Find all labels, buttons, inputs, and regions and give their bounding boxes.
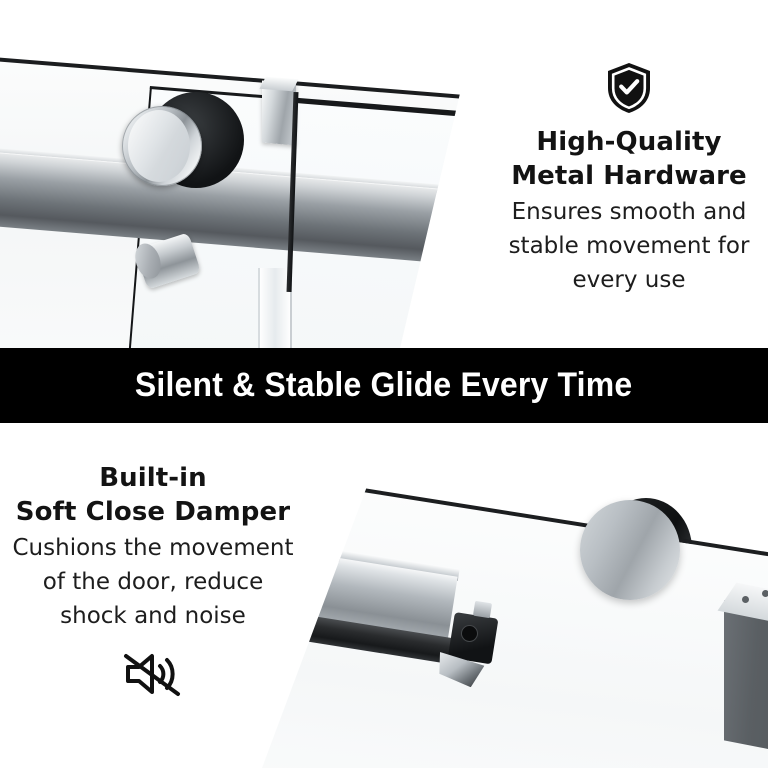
top-title-line-1: High-Quality xyxy=(490,126,768,160)
bottom-body-line-2: of the door, reduce xyxy=(8,567,298,598)
top-title-line-2: Metal Hardware xyxy=(490,160,768,194)
top-body-line-3: every use xyxy=(490,265,768,296)
mounting-screw-hole-1 xyxy=(742,596,749,603)
bottom-body-line-1: Cushions the movement xyxy=(8,533,298,564)
top-feature-panel: High-Quality Metal Hardware Ensures smoo… xyxy=(0,0,768,348)
mute-speaker-icon xyxy=(122,648,184,700)
banner-text: Silent & Stable Glide Every Time xyxy=(135,366,632,405)
damper-screw-shape xyxy=(473,601,492,618)
roller-disc-shape xyxy=(580,500,680,600)
bottom-title-line-1: Built-in xyxy=(8,462,298,496)
top-text-block: High-Quality Metal Hardware Ensures smoo… xyxy=(490,62,768,296)
mounting-screw-hole-2 xyxy=(762,590,768,597)
bottom-body-line-3: shock and noise xyxy=(8,601,298,632)
bottom-text-block: Built-in Soft Close Damper Cushions the … xyxy=(8,462,298,700)
shield-check-icon xyxy=(606,62,652,114)
top-body-line-2: stable movement for xyxy=(490,231,768,262)
roller-hardware-photo xyxy=(0,0,500,348)
bottom-title-line-2: Soft Close Damper xyxy=(8,496,298,530)
roller-wheel-face-shape xyxy=(128,110,190,182)
bracket-block-top-shape xyxy=(259,77,298,91)
headline-banner: Silent & Stable Glide Every Time xyxy=(0,348,768,423)
damper-pivot-hole-shape xyxy=(462,626,477,641)
infographic-sheet: High-Quality Metal Hardware Ensures smoo… xyxy=(0,0,768,768)
mounting-block-shape xyxy=(724,600,768,755)
top-body-line-1: Ensures smooth and xyxy=(490,197,768,228)
